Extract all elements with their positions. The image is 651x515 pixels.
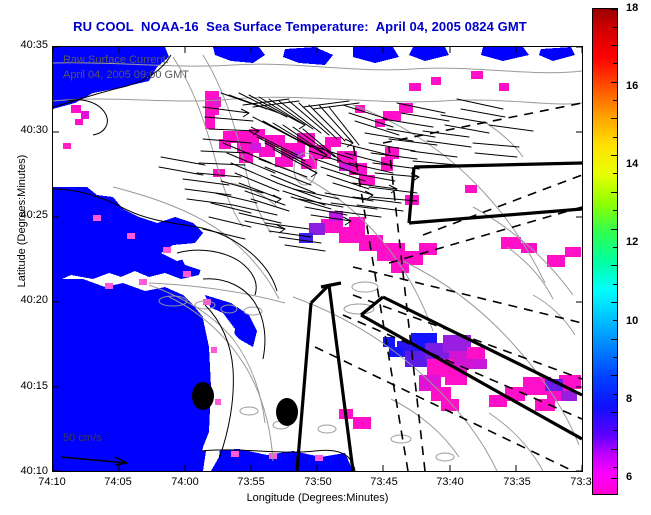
colorbar-tick-18: 18 (618, 2, 651, 14)
page-title: RU COOL NOAA-16 Sea Surface Temperature:… (0, 19, 600, 34)
annotation-line-1: Raw Surface Current: (63, 54, 169, 66)
colorbar-tick-16: 16 (618, 80, 651, 92)
map-canvas (53, 47, 582, 471)
map-svg (53, 47, 582, 471)
annotation-line-2: April 04, 2005 09:00 GMT (63, 69, 189, 81)
x-axis-label: Longitude (Degrees:Minutes) (52, 492, 583, 504)
x-tick-5: 73:45 (354, 476, 414, 488)
sst-map-plot[interactable]: Raw Surface Current: April 04, 2005 09:0… (52, 46, 583, 472)
x-tick-0: 74:10 (22, 476, 82, 488)
x-tick-2: 74:00 (155, 476, 215, 488)
scale-bar-label: 50 cm/s (63, 432, 102, 444)
x-tick-1: 74:05 (88, 476, 148, 488)
colorbar-tick-12: 12 (618, 236, 651, 248)
colorbar-tick-10: 10 (618, 315, 651, 327)
x-tick-3: 73:55 (221, 476, 281, 488)
y-tick-4: 40:15 (4, 380, 48, 392)
colorbar-tick-6: 6 (618, 471, 651, 483)
x-tick-4: 73:50 (288, 476, 348, 488)
y-tick-0: 40:35 (4, 39, 48, 51)
x-tick-7: 73:35 (487, 476, 547, 488)
figure-canvas: RU COOL NOAA-16 Sea Surface Temperature:… (0, 0, 651, 515)
colorbar-tick-8: 8 (618, 393, 651, 405)
y-axis-label: Latitude (Degrees:Minutes) (16, 121, 28, 321)
x-tick-6: 73:40 (420, 476, 480, 488)
station-marker-1 (192, 382, 214, 410)
colorbar-tick-14: 14 (618, 158, 651, 170)
station-marker-2 (276, 398, 298, 426)
raw-surface-current-annotation: Raw Surface Current: April 04, 2005 09:0… (63, 53, 189, 83)
